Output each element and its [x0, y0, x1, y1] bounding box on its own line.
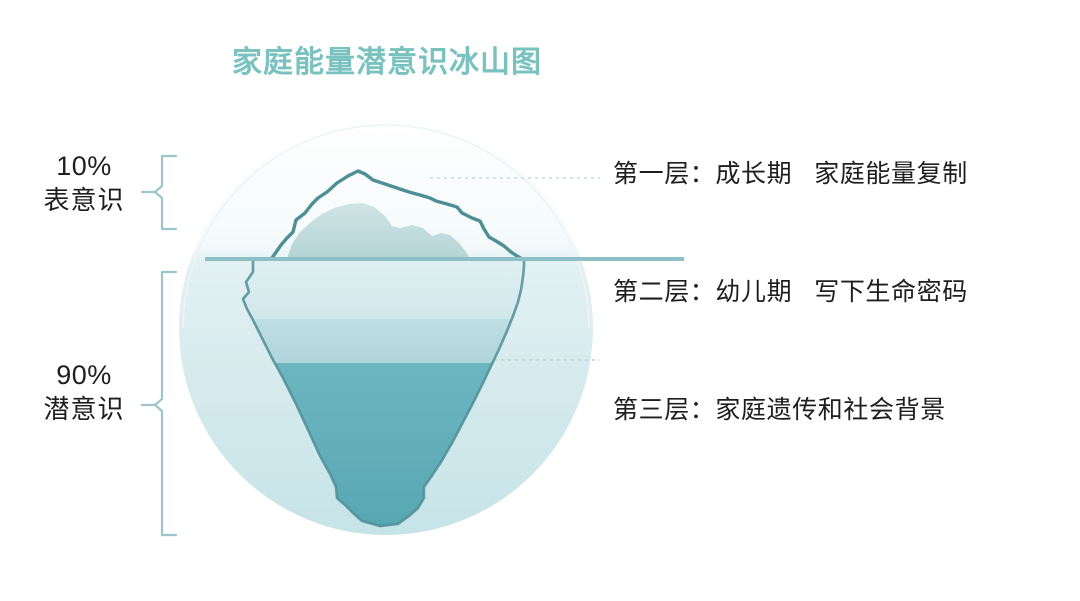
caption-layer-3-prefix: 第三层： [613, 396, 715, 424]
brace-subconscious [155, 272, 176, 535]
label-conscious: 10% 表意识 [26, 149, 142, 217]
caption-layer-3-stage: 家庭遗传和社会背景 [715, 396, 945, 424]
caption-layer-1: 第一层：成长期家庭能量复制 [613, 158, 968, 191]
caption-layer-2: 第二层：幼儿期写下生命密码 [613, 276, 968, 309]
conscious-name: 表意识 [26, 184, 142, 217]
conscious-percent: 10% [26, 149, 142, 184]
caption-layer-1-description: 家庭能量复制 [814, 160, 968, 188]
caption-layer-1-stage: 成长期 [715, 160, 792, 188]
subconscious-name: 潜意识 [26, 393, 142, 426]
caption-layer-2-prefix: 第二层： [613, 278, 715, 306]
caption-layer-1-prefix: 第一层： [613, 160, 715, 188]
brace-conscious [155, 156, 176, 229]
caption-layer-2-stage: 幼儿期 [715, 278, 792, 306]
label-subconscious: 90% 潜意识 [26, 358, 142, 426]
caption-layer-3: 第三层：家庭遗传和社会背景 [613, 394, 946, 427]
subconscious-percent: 90% [26, 358, 142, 393]
iceberg-diagram-page: 家庭能量潜意识冰山图 [0, 0, 1080, 601]
caption-layer-2-description: 写下生命密码 [814, 278, 968, 306]
